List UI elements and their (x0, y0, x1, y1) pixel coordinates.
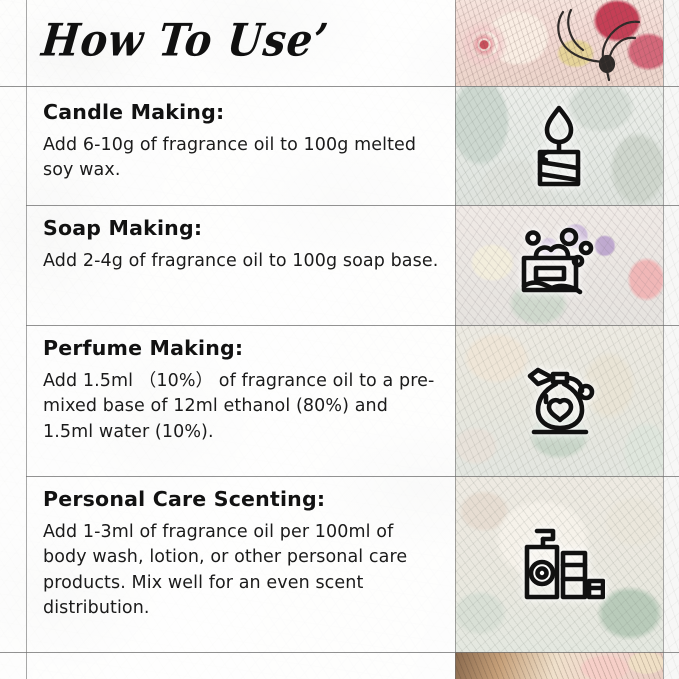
candle-icon (522, 104, 596, 188)
how-to-use-infographic: How To Use’ Candle Making: Add 6-10g of … (0, 0, 679, 679)
section-body-perfume: Add 1.5ml （10%） of fragrance oil to a pr… (43, 369, 441, 445)
soap-bar-icon (516, 226, 602, 304)
section-perfume-making: Perfume Making: Add 1.5ml （10%） of fragr… (27, 336, 455, 445)
right-paper-margin (663, 0, 679, 679)
section-body-candle: Add 6-10g of fragrance oil to 100g melte… (43, 133, 441, 184)
section-body-personal-care: Add 1-3ml of fragrance oil per 100ml of … (43, 520, 441, 622)
art-band-book-and-blossoms (455, 652, 663, 679)
icon-slot-soap (455, 205, 663, 325)
icon-slot-candle (455, 86, 663, 205)
perfume-bottle-icon (516, 358, 602, 444)
dragonfly-illustration (551, 4, 647, 82)
page-title: How To Use’ (39, 14, 331, 67)
section-personal-care-scenting: Personal Care Scenting: Add 1-3ml of fra… (27, 487, 455, 622)
section-heading-soap: Soap Making: (43, 216, 441, 240)
personal-care-products-icon (513, 521, 605, 607)
right-vertical-rule (663, 0, 664, 679)
section-body-soap: Add 2-4g of fragrance oil to 100g soap b… (43, 249, 441, 274)
art-band-roses-and-dragonfly (455, 0, 663, 86)
divider-bottom (0, 652, 679, 653)
icon-slot-personal-care (455, 476, 663, 652)
icon-slot-perfume (455, 325, 663, 476)
section-heading-candle: Candle Making: (43, 100, 441, 124)
section-heading-perfume: Perfume Making: (43, 336, 441, 360)
section-soap-making: Soap Making: Add 2-4g of fragrance oil t… (27, 216, 455, 274)
section-candle-making: Candle Making: Add 6-10g of fragrance oi… (27, 100, 455, 184)
title-area: How To Use’ (26, 0, 455, 86)
section-heading-personal-care: Personal Care Scenting: (43, 487, 441, 511)
